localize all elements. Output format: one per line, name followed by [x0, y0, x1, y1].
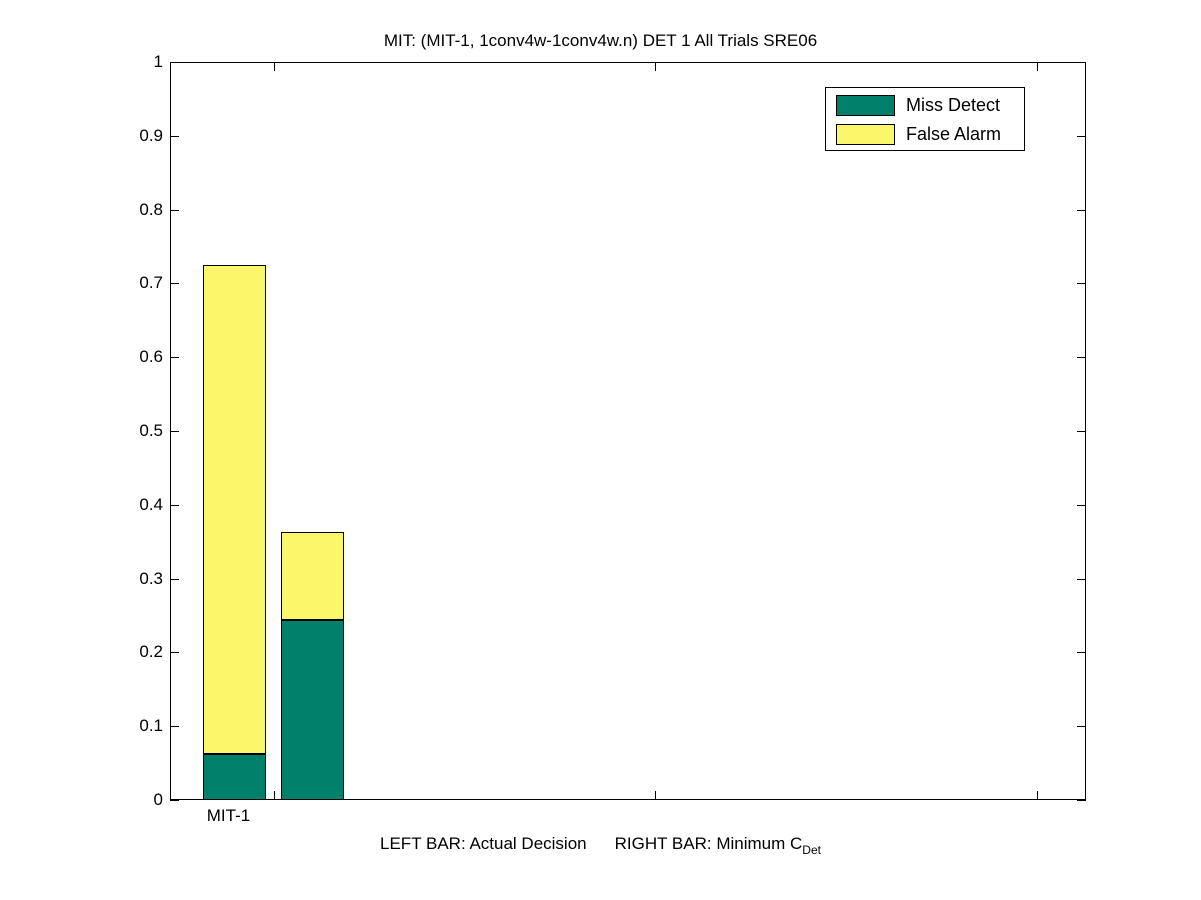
y-axis-tick-label: 0.7 — [0, 273, 163, 293]
y-axis-tick-label: 0.4 — [0, 495, 163, 515]
y-axis-tick-mark-right — [1077, 357, 1086, 358]
y-axis-tick-mark-right — [1077, 726, 1086, 727]
x-axis-tick-mark-top — [655, 62, 656, 71]
chart-legend: Miss Detect False Alarm — [825, 87, 1025, 151]
bar-segment-miss-detect — [281, 620, 344, 800]
y-axis-tick-mark — [170, 431, 179, 432]
x-axis-tick-mark-top — [1037, 62, 1038, 71]
y-axis-tick-mark-right — [1077, 652, 1086, 653]
legend-item-false-alarm: False Alarm — [836, 122, 1001, 146]
footer-caption: LEFT BAR: Actual DecisionRIGHT BAR: Mini… — [0, 834, 1201, 854]
x-axis-tick-mark — [655, 791, 656, 800]
y-axis-tick-label: 0.3 — [0, 569, 163, 589]
figure-canvas: MIT: (MIT-1, 1conv4w-1conv4w.n) DET 1 Al… — [0, 0, 1201, 900]
y-axis-tick-mark — [170, 726, 179, 727]
bar-segment-false-alarm — [281, 532, 344, 620]
y-axis-tick-mark — [170, 652, 179, 653]
y-axis-tick-mark — [170, 800, 179, 801]
y-axis-tick-mark-right — [1077, 505, 1086, 506]
x-axis-tick-label: MIT-1 — [207, 806, 250, 826]
y-axis-tick-label: 0 — [0, 790, 163, 810]
y-axis-tick-mark-right — [1077, 800, 1086, 801]
y-axis-tick-label: 1 — [0, 52, 163, 72]
y-axis-tick-mark — [170, 283, 179, 284]
y-axis-tick-label: 0.8 — [0, 200, 163, 220]
legend-swatch-miss-detect — [836, 95, 895, 116]
legend-swatch-false-alarm — [836, 124, 895, 145]
legend-label-false-alarm: False Alarm — [906, 125, 1001, 143]
legend-item-miss-detect: Miss Detect — [836, 93, 1000, 117]
y-axis-tick-label: 0.6 — [0, 347, 163, 367]
y-axis-tick-mark-right — [1077, 136, 1086, 137]
y-axis-tick-mark-right — [1077, 62, 1086, 63]
y-axis-tick-mark-right — [1077, 431, 1086, 432]
y-axis-tick-mark — [170, 505, 179, 506]
y-axis-tick-label: 0.9 — [0, 126, 163, 146]
footer-caption-right: RIGHT BAR: Minimum C — [615, 834, 803, 853]
footer-caption-left: LEFT BAR: Actual Decision — [380, 834, 587, 853]
y-axis-tick-mark — [170, 210, 179, 211]
x-axis-tick-mark-top — [274, 62, 275, 71]
y-axis-tick-mark — [170, 62, 179, 63]
y-axis-tick-mark — [170, 357, 179, 358]
y-axis-tick-mark-right — [1077, 283, 1086, 284]
x-axis-tick-mark — [1037, 791, 1038, 800]
bar-segment-miss-detect — [203, 754, 266, 800]
y-axis-tick-mark — [170, 579, 179, 580]
y-axis-tick-label: 0.1 — [0, 716, 163, 736]
footer-caption-right-subscript: Det — [802, 843, 821, 857]
y-axis-tick-label: 0.5 — [0, 421, 163, 441]
y-axis-tick-label: 0.2 — [0, 642, 163, 662]
chart-title: MIT: (MIT-1, 1conv4w-1conv4w.n) DET 1 Al… — [0, 31, 1201, 51]
x-axis-tick-mark — [274, 791, 275, 800]
y-axis-tick-mark — [170, 136, 179, 137]
bar-segment-false-alarm — [203, 265, 266, 754]
y-axis-tick-mark-right — [1077, 579, 1086, 580]
legend-label-miss-detect: Miss Detect — [906, 96, 1000, 114]
y-axis-tick-mark-right — [1077, 210, 1086, 211]
